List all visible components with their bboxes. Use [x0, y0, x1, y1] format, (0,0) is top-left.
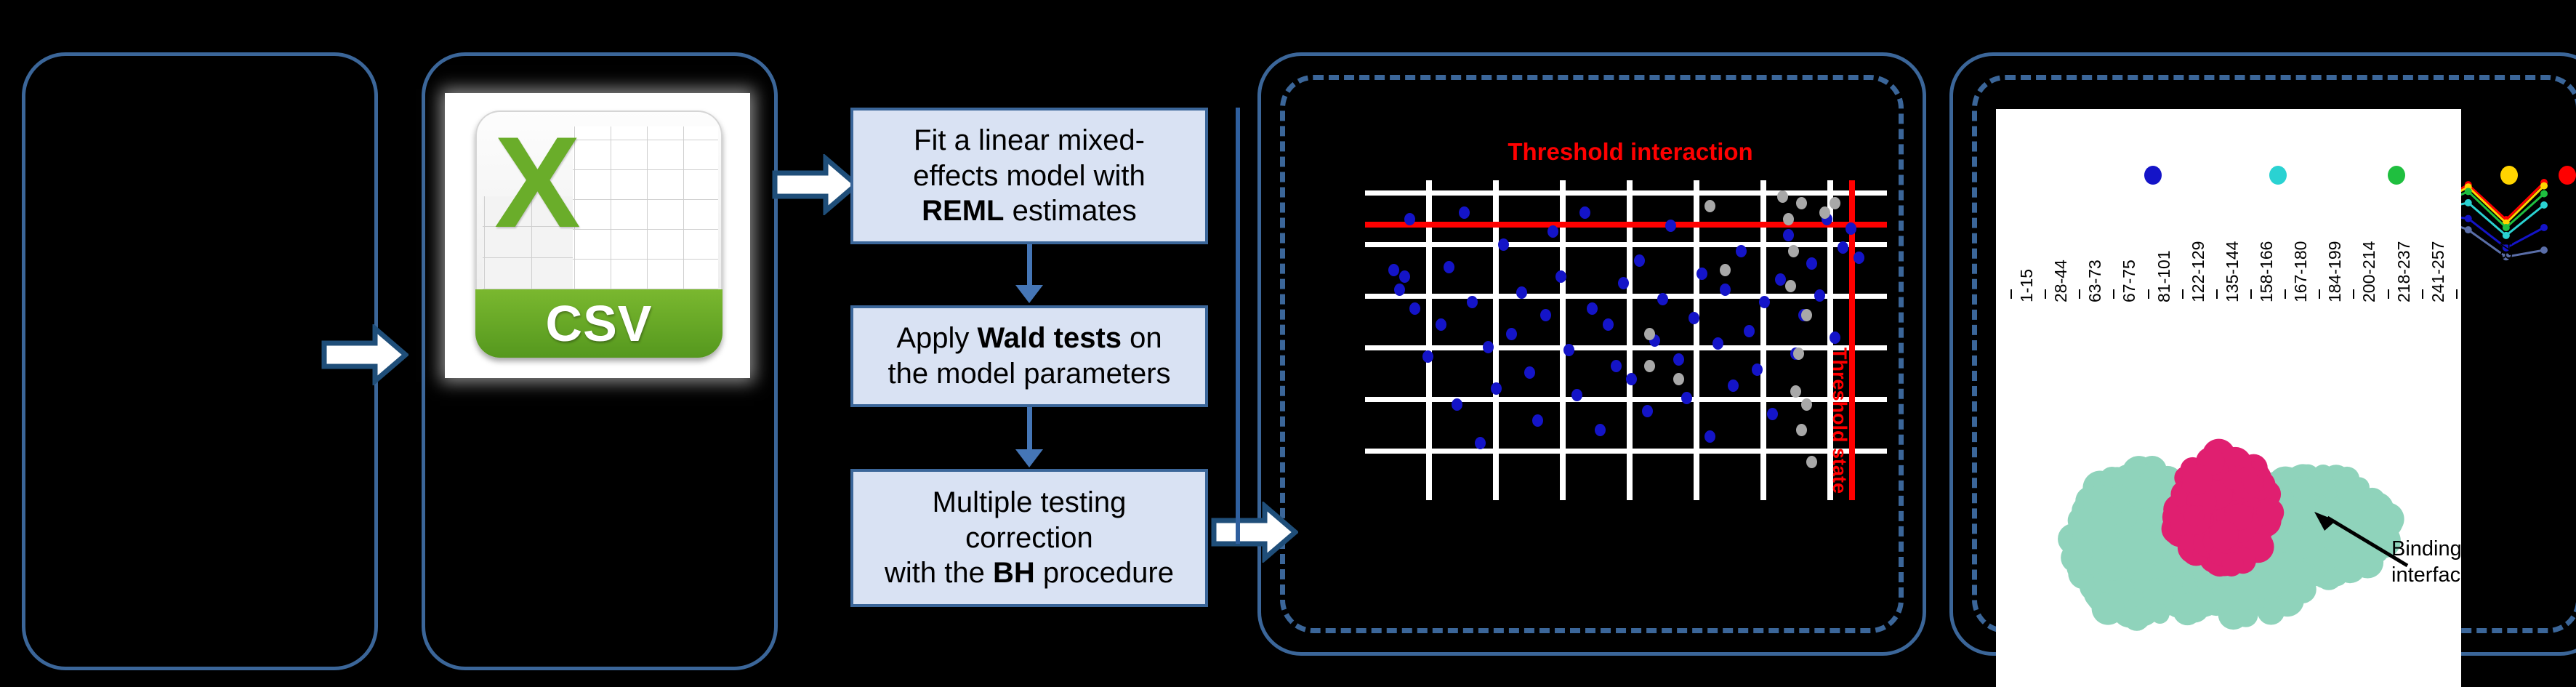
surface-blob	[2222, 553, 2244, 574]
scatter-point	[1644, 360, 1655, 372]
scatter-point	[1595, 424, 1606, 436]
horizontal-threshold-line	[1365, 222, 1887, 228]
scatter-point	[1783, 213, 1794, 225]
x-axis-tick-label: 1-15	[2017, 269, 2037, 302]
line-marker	[2465, 199, 2472, 206]
x-axis-tick-label: 258-266	[2463, 241, 2482, 302]
x-axis-tick-label: 81-101	[2154, 250, 2174, 302]
x-axis-tick-label: 184-199	[2325, 241, 2345, 302]
scatter-point	[1790, 385, 1801, 398]
x-axis-tick-label: 218-237	[2394, 241, 2414, 302]
surface-blob	[2243, 475, 2263, 494]
arrow-csv-to-model	[772, 154, 859, 215]
scatter-point	[1540, 309, 1551, 321]
surface-blob	[2229, 580, 2259, 611]
scatter-point	[1467, 296, 1478, 308]
scatter-point	[1775, 273, 1786, 286]
scatter-point	[1788, 245, 1799, 257]
scatter-point	[1830, 332, 1840, 344]
scatter-point	[1796, 197, 1807, 209]
scatter-point	[1793, 347, 1804, 360]
surface-blob	[2290, 477, 2312, 499]
surface-blob	[2178, 593, 2199, 615]
scatter-point	[1404, 213, 1415, 225]
scatter-point	[1634, 254, 1645, 267]
arrow-model-to-threshold	[1211, 502, 1298, 563]
x-axis-tick	[2079, 289, 2080, 299]
reml-bold: REML	[922, 195, 1004, 227]
scatter-point	[1555, 270, 1566, 283]
csv-icon-label-bar: CSV	[475, 289, 723, 358]
reml-line3: estimates	[1005, 195, 1137, 227]
line-marker	[2465, 215, 2472, 222]
surface-blob	[2078, 539, 2096, 558]
surface-blob	[2343, 483, 2372, 513]
process-box-bh[interactable]: Multiple testing correction with the BH …	[850, 469, 1208, 607]
bh-pre: with the	[885, 557, 993, 589]
x-axis-tick-label: 167-180	[2291, 241, 2311, 302]
scatter-point	[1712, 337, 1723, 350]
scatter-point	[1838, 241, 1848, 254]
scatter-point	[1611, 360, 1622, 372]
x-axis-tick	[2285, 289, 2286, 299]
line-marker	[2540, 190, 2548, 198]
csv-icon-x-letter: X	[494, 121, 581, 244]
x-axis-tick	[2045, 289, 2046, 299]
connector-reml-to-wald	[1027, 244, 1032, 286]
surface-blob	[2184, 506, 2205, 526]
x-axis-tick	[2319, 289, 2320, 299]
scatter-point	[1814, 289, 1825, 302]
binding-interface-line2: interface	[2391, 562, 2472, 588]
scatter-point	[1547, 225, 1558, 238]
scatter-point	[1777, 190, 1788, 203]
surface-blob	[2109, 485, 2130, 507]
line-marker	[2540, 224, 2548, 231]
process-box-bh-text: Multiple testing correction with the BH …	[885, 485, 1174, 591]
scatter-point	[1819, 206, 1830, 219]
bh-post: procedure	[1035, 557, 1174, 589]
scatter-point	[1736, 245, 1747, 257]
process-box-wald-text: Apply Wald tests on the model parameters	[887, 321, 1170, 392]
scatter-point	[1483, 341, 1494, 353]
scatter-point	[1720, 264, 1731, 276]
scatter-point	[1444, 261, 1454, 273]
scatter-point	[1642, 405, 1653, 417]
scatter-point	[1785, 280, 1796, 292]
x-axis-tick	[2182, 289, 2183, 299]
wald-bold: Wald tests	[978, 322, 1122, 354]
surface-blob	[2182, 464, 2213, 494]
scatter-point	[1498, 238, 1509, 251]
scatter-point	[1665, 220, 1676, 232]
scatter-point	[1783, 229, 1794, 241]
scatter-point	[1673, 353, 1684, 366]
line-marker	[2503, 224, 2510, 231]
scatter-plot-area: Threshold state	[1365, 180, 1887, 500]
bh-bold: BH	[993, 557, 1035, 589]
process-box-reml[interactable]: Fit a linear mixed- effects model with R…	[850, 108, 1208, 244]
arrow-input-to-csv	[321, 324, 408, 385]
scatter-point	[1846, 222, 1856, 235]
scatter-point	[1801, 309, 1812, 321]
binding-interface-line1: Binding	[2391, 536, 2472, 562]
scatter-point	[1516, 286, 1527, 299]
scatter-point	[1452, 398, 1462, 411]
scatter-point	[1720, 284, 1731, 296]
scatter-point	[1506, 328, 1517, 340]
line-marker	[2465, 188, 2472, 195]
scatter-point	[1571, 389, 1582, 401]
scatter-point	[1422, 350, 1433, 363]
wald-pre: Apply	[896, 322, 977, 354]
connector-arrow-wald-to-bh	[1015, 449, 1043, 467]
x-axis-tick-label: 28-44	[2051, 260, 2071, 302]
scatter-point	[1409, 302, 1420, 315]
x-axis-tick	[2148, 289, 2149, 299]
scatter-point	[1830, 197, 1840, 209]
reml-line1: Fit a linear mixed-	[914, 124, 1145, 156]
scatter-point	[1696, 268, 1707, 280]
scatter-point	[1491, 382, 1502, 395]
scatter-point	[1475, 437, 1486, 449]
scatter-point	[1806, 257, 1817, 270]
reml-line2: effects model with	[913, 160, 1145, 192]
scatter-point	[1752, 363, 1763, 376]
scatter-point	[1704, 200, 1715, 212]
threshold-scatter-chart: Threshold interaction Threshold state	[1358, 138, 1903, 516]
csv-icon-label: CSV	[546, 294, 653, 353]
line-marker	[2540, 201, 2548, 209]
x-axis-tick	[2456, 289, 2458, 299]
scatter-point	[1399, 270, 1410, 283]
scatter-point	[1563, 344, 1574, 356]
scatter-point	[1681, 392, 1692, 404]
scatter-point	[1618, 277, 1629, 289]
x-axis-tick	[2113, 289, 2114, 299]
surface-blob	[2152, 583, 2174, 605]
x-axis-tick-label: 200-214	[2359, 241, 2379, 302]
csv-icon-grid-right	[573, 126, 718, 291]
line-marker	[2503, 232, 2510, 239]
line-chart-legend-dot	[2500, 166, 2518, 185]
scatter-point	[1728, 379, 1739, 392]
scatter-point	[1579, 206, 1590, 219]
scatter-point	[1657, 293, 1668, 305]
scatter-point	[1767, 408, 1778, 420]
threshold-state-label: Threshold state	[1828, 347, 1851, 494]
x-axis-tick	[2353, 289, 2354, 299]
scatter-point	[1388, 264, 1399, 276]
scatter-point	[1704, 430, 1715, 443]
scatter-point	[1626, 373, 1637, 385]
line-chart-legend-dot	[2269, 166, 2287, 185]
scatter-point	[1853, 252, 1864, 264]
surface-blob	[2209, 521, 2239, 550]
x-axis-tick	[2490, 289, 2492, 299]
x-axis-tick-label: 63-73	[2085, 260, 2105, 302]
csv-file-icon: X CSV	[445, 93, 750, 378]
surface-blob	[2223, 470, 2242, 489]
x-axis-tick	[2250, 289, 2252, 299]
connector-wald-to-bh	[1027, 407, 1032, 452]
scatter-point	[1689, 312, 1699, 324]
scatter-point	[1587, 302, 1598, 315]
csv-icon-badge: X CSV	[475, 111, 723, 358]
line-chart-legend-dot	[2559, 166, 2576, 185]
process-box-reml-text: Fit a linear mixed- effects model with R…	[913, 123, 1145, 229]
binding-interface-label: Binding interface	[2391, 536, 2472, 589]
surface-blob	[2256, 499, 2284, 526]
scatter-point	[1459, 206, 1470, 219]
process-box-wald[interactable]: Apply Wald tests on the model parameters	[850, 305, 1208, 407]
bh-line1: Multiple testing	[933, 486, 1127, 518]
surface-blob	[2126, 476, 2159, 509]
scatter-point	[1532, 414, 1543, 427]
line-marker	[2465, 226, 2472, 233]
line-chart-legend-dot	[2388, 166, 2405, 185]
x-axis-tick-label: 241-257	[2428, 241, 2448, 302]
surface-blob	[2092, 485, 2110, 503]
wald-line2: the model parameters	[887, 358, 1170, 390]
line-marker	[2540, 182, 2548, 190]
model-panel-spine	[1236, 108, 1240, 544]
scatter-point	[1806, 456, 1817, 468]
x-axis-tick-label: 67-75	[2120, 260, 2139, 302]
scatter-point	[1796, 424, 1807, 436]
line-marker	[2540, 246, 2548, 254]
wald-post: on	[1122, 322, 1162, 354]
scatter-point	[1759, 296, 1770, 308]
scatter-point	[1673, 373, 1684, 385]
scatter-point	[1744, 325, 1755, 337]
x-axis-tick	[2388, 289, 2389, 299]
x-axis-tick-label: 158-166	[2257, 241, 2277, 302]
x-axis-tick	[2422, 289, 2423, 299]
connector-arrow-reml-to-wald	[1015, 285, 1043, 303]
line-chart-legend-dot	[2144, 166, 2162, 185]
x-axis-tick	[2216, 289, 2218, 299]
x-axis-tick	[2011, 289, 2012, 299]
scatter-point	[1394, 284, 1405, 296]
x-axis-tick-label: 135-144	[2223, 241, 2242, 302]
x-axis-tick-label: 122-129	[2189, 241, 2208, 302]
scatter-point	[1801, 398, 1812, 411]
bh-line2: correction	[965, 522, 1093, 554]
x-axis-tick-label: 277-284	[2497, 241, 2516, 302]
threshold-interaction-title: Threshold interaction	[1358, 138, 1903, 166]
scatter-point	[1524, 366, 1535, 379]
scatter-point	[1603, 318, 1614, 331]
scatter-point	[1436, 318, 1446, 331]
